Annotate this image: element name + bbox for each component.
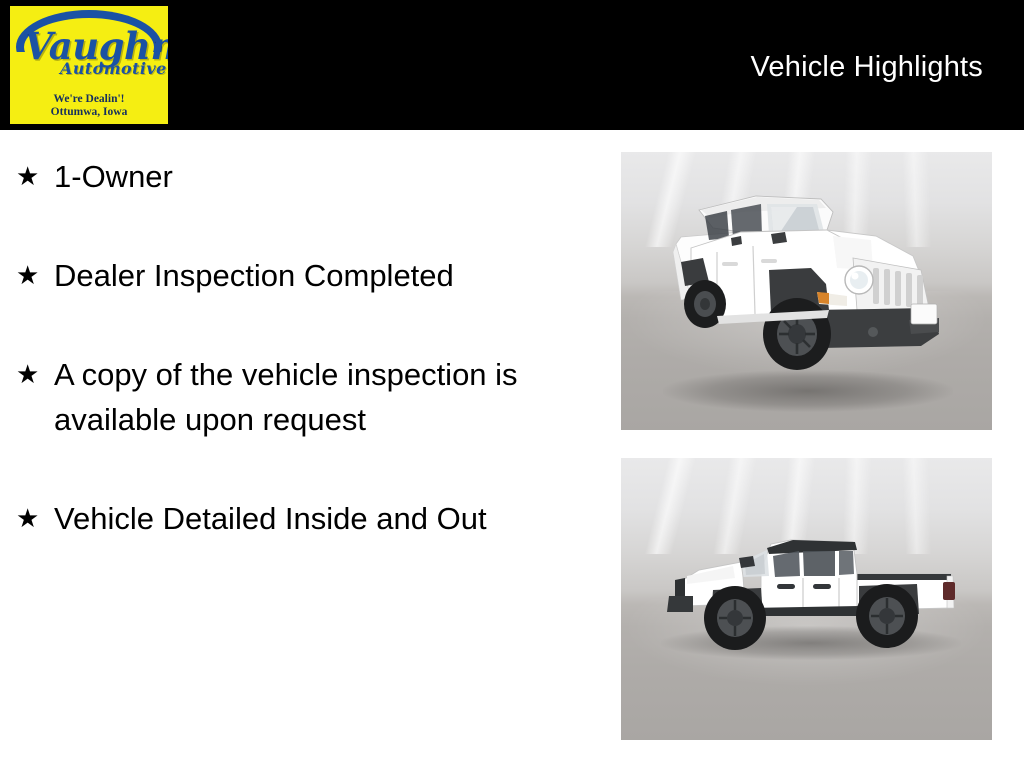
list-item: ★ Vehicle Detailed Inside and Out [14,496,604,541]
logo-subbrand-text: Automotive [60,61,167,77]
vehicle-photo-front-quarter[interactable] [621,152,992,430]
page-header: Vaughn Automotive We're Dealin'! Ottumwa… [0,0,1024,130]
logo-tagline-line2: Ottumwa, Iowa [10,107,168,119]
star-icon: ★ [14,352,54,397]
jeep-gladiator-side-profile-illustration [621,458,992,740]
highlight-text: 1-Owner [54,154,604,199]
list-item: ★ A copy of the vehicle inspection is av… [14,352,604,442]
star-icon: ★ [14,154,54,199]
list-item: ★ Dealer Inspection Completed [14,253,604,298]
logo-tagline-line1: We're Dealin'! [10,94,168,106]
highlight-text: A copy of the vehicle inspection is avai… [54,352,604,442]
page-title: Vehicle Highlights [750,51,983,84]
highlight-text: Dealer Inspection Completed [54,253,604,298]
list-item: ★ 1-Owner [14,154,604,199]
page-content: ★ 1-Owner ★ Dealer Inspection Completed … [0,130,1024,768]
jeep-gladiator-front-quarter-illustration [621,152,992,430]
highlight-text: Vehicle Detailed Inside and Out [54,496,604,541]
vehicle-photo-side-profile[interactable] [621,458,992,740]
star-icon: ★ [14,253,54,298]
star-icon: ★ [14,496,54,541]
dealer-logo[interactable]: Vaughn Automotive We're Dealin'! Ottumwa… [10,6,168,124]
vehicle-highlights-list: ★ 1-Owner ★ Dealer Inspection Completed … [14,154,604,541]
